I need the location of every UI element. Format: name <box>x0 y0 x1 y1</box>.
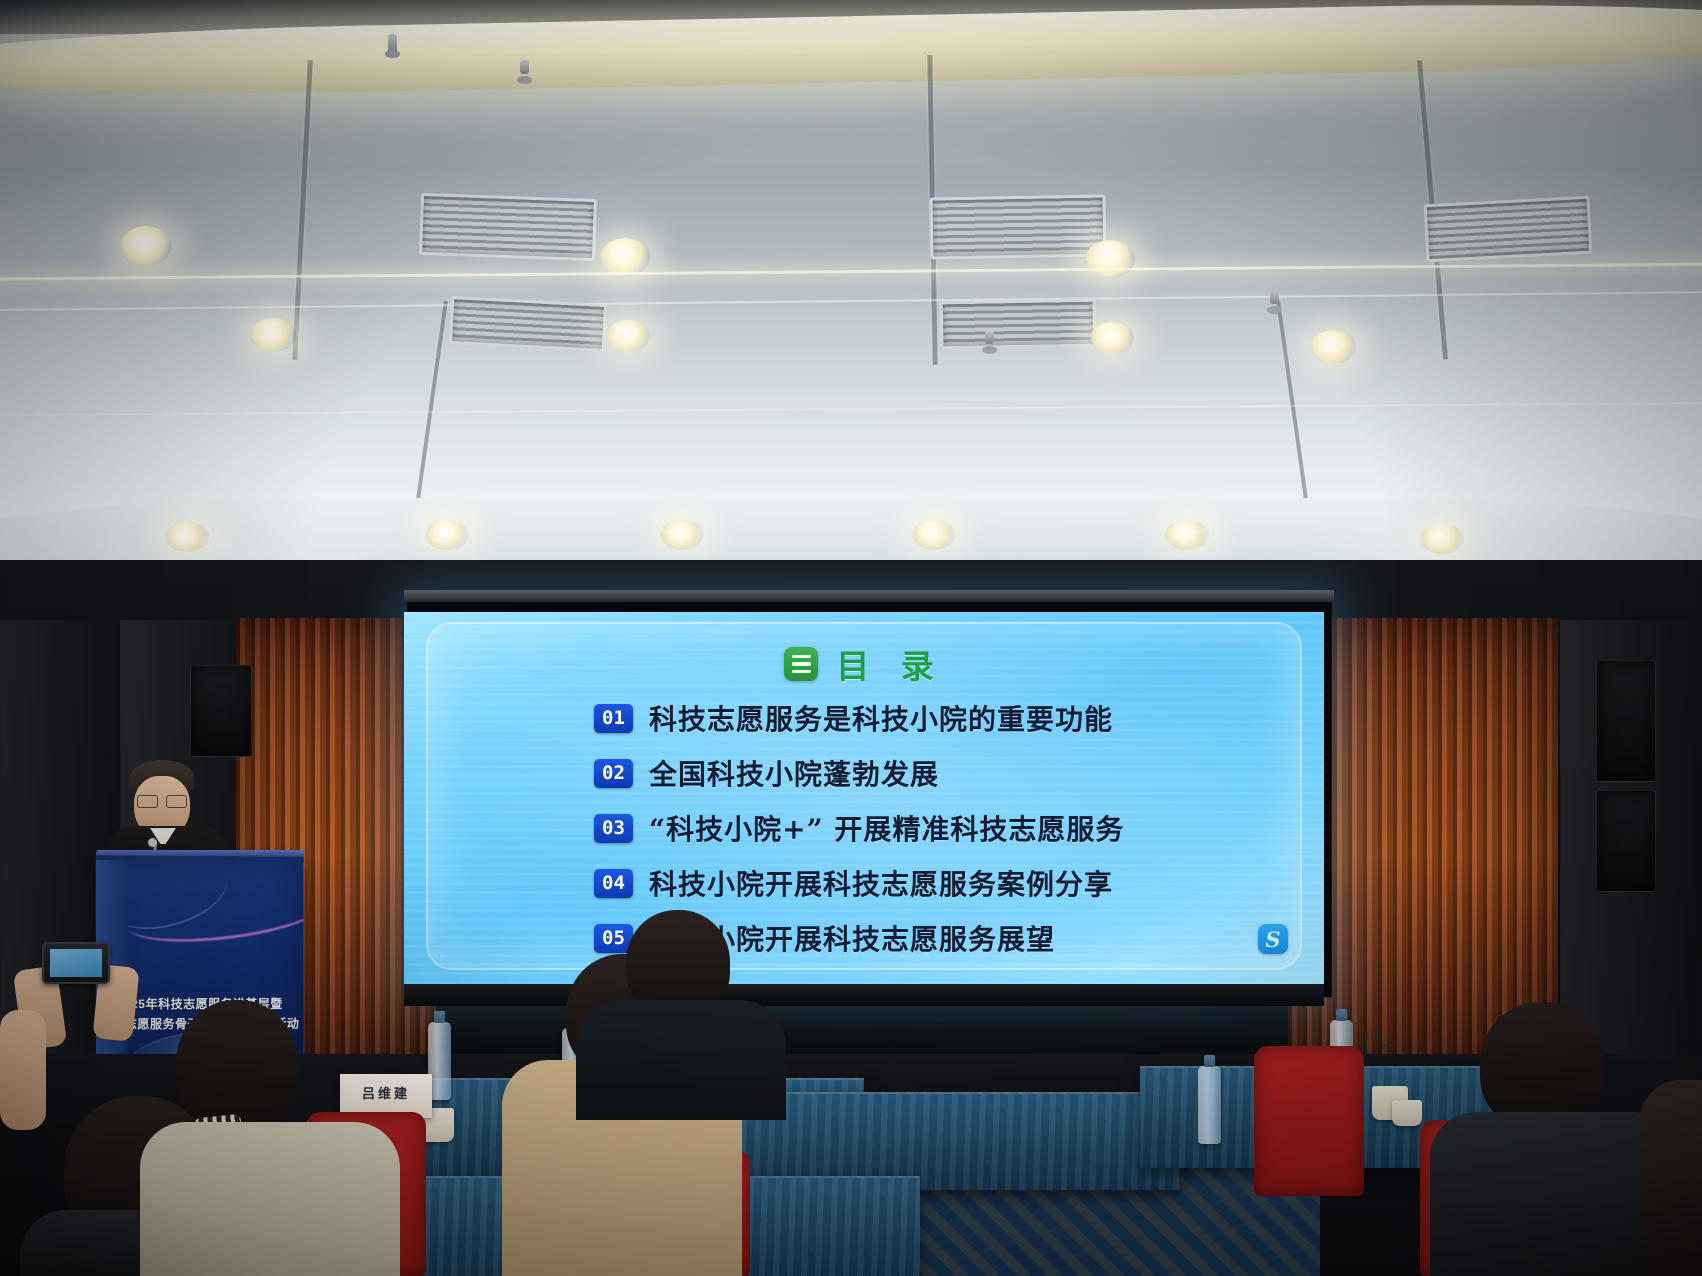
ceiling-air-vent <box>929 194 1106 259</box>
page-title: 目 录 <box>836 640 944 688</box>
item-label: 科技小院开展科技志愿服务案例分享 <box>649 863 1113 903</box>
torso <box>140 1122 400 1276</box>
sprinkler-head <box>1270 290 1279 304</box>
item-number-badge: 04 <box>594 869 633 898</box>
wall-speaker-left <box>190 665 252 757</box>
wall-speaker-right-2 <box>1596 790 1656 892</box>
conference-hall-photo: 目 录 01 科技志愿服务是科技小院的重要功能 02 全国科技小院蓬勃发展 03… <box>0 0 1702 1276</box>
ceiling-seam <box>0 290 1702 311</box>
ceiling-downlight <box>1085 240 1135 278</box>
list-item[interactable]: 03 “科技小院+” 开展精准科技志愿服务 <box>594 808 1294 848</box>
stage-downlight <box>425 520 469 550</box>
ceiling-seam <box>0 402 1702 417</box>
presentation-app-logo: S <box>1258 924 1288 954</box>
ceiling-rib <box>1276 301 1308 500</box>
smartphone[interactable] <box>42 942 110 984</box>
slide-title-group: 目 录 <box>404 640 1324 688</box>
list-item[interactable]: 02 全国科技小院蓬勃发展 <box>594 753 1294 793</box>
item-number-badge: 03 <box>594 814 633 843</box>
item-number-badge: 02 <box>594 759 633 788</box>
ceiling-downlight <box>600 238 650 276</box>
projection-screen-mount <box>404 590 1334 602</box>
ceiling-downlight <box>1310 330 1356 364</box>
ceiling-air-vent <box>940 299 1097 350</box>
item-number-badge: 01 <box>594 704 633 733</box>
head <box>176 1000 298 1132</box>
list-item[interactable]: 01 科技志愿服务是科技小院的重要功能 <box>594 698 1294 738</box>
sprinkler-head <box>985 330 994 344</box>
forearm <box>0 1010 46 1130</box>
sprinkler-head <box>520 60 529 74</box>
presenter-glasses <box>137 795 187 806</box>
ceiling-air-vent <box>419 193 597 261</box>
ceiling-rib <box>416 301 448 500</box>
ceiling-rib <box>292 60 313 360</box>
item-label: 科技志愿服务是科技小院的重要功能 <box>649 698 1113 738</box>
ceiling-downlight <box>250 318 296 352</box>
item-label: “科技小院+” 开展精准科技志愿服务 <box>649 808 1124 848</box>
ceiling-light-strip <box>0 262 1702 281</box>
torso <box>576 1000 786 1120</box>
list-item[interactable]: 04 科技小院开展科技志愿服务案例分享 <box>594 863 1294 903</box>
stage-downlight <box>660 520 704 550</box>
ceiling <box>0 0 1702 560</box>
tea-cup <box>1392 1100 1422 1126</box>
water-bottle <box>1198 1066 1221 1144</box>
stage-downlight <box>165 522 209 552</box>
stage-downlight <box>912 520 956 550</box>
stage-downlight <box>1165 520 1209 550</box>
ceiling-air-vent <box>449 296 607 352</box>
stage-downlight <box>1420 524 1464 554</box>
sprinkler-head <box>388 34 397 56</box>
screen-bottom-rail <box>404 984 1324 1006</box>
ceiling-air-vent <box>1424 196 1593 263</box>
chair <box>1254 1046 1364 1196</box>
wall-speaker-right <box>1596 660 1656 782</box>
presentation-slide[interactable]: 目 录 01 科技志愿服务是科技小院的重要功能 02 全国科技小院蓬勃发展 03… <box>404 612 1324 984</box>
ceiling-downlight <box>120 226 172 266</box>
torso <box>1640 1080 1702 1276</box>
ceiling-downlight <box>606 320 650 352</box>
head <box>1480 1002 1604 1130</box>
ceiling-downlight <box>1090 322 1134 354</box>
name-card-text: 吕维建 <box>340 1083 432 1102</box>
item-label: 全国科技小院蓬勃发展 <box>649 753 939 793</box>
list-icon <box>784 647 818 681</box>
microphone-head <box>148 838 157 847</box>
